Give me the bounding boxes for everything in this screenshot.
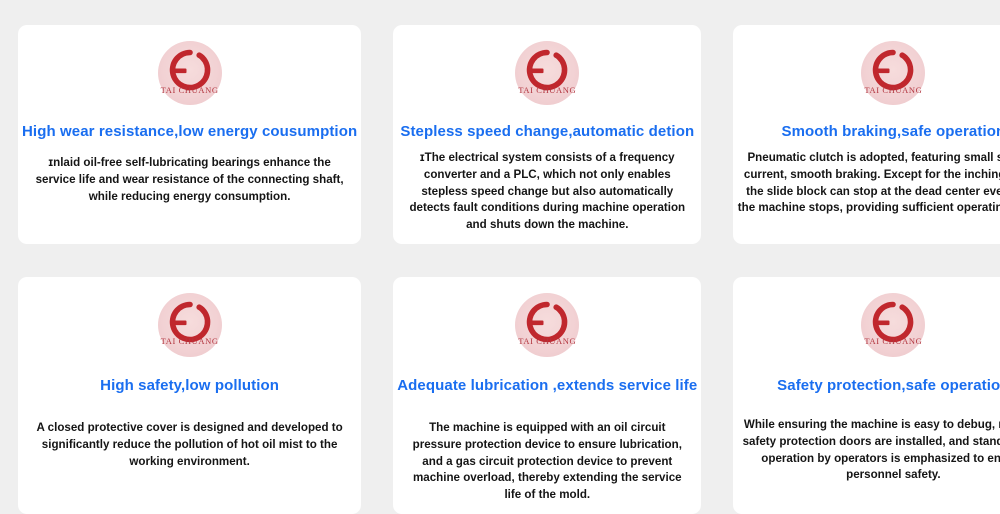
logo-wordmark: TAI CHUANG bbox=[515, 86, 579, 95]
card-body-text: A closed protective cover is designed an… bbox=[22, 420, 357, 470]
logo-wordmark: TAI CHUANG bbox=[861, 337, 925, 346]
tai-chuang-logo-icon: TAI CHUANG bbox=[515, 293, 579, 357]
tai-chuang-logo-icon: TAI CHUANG bbox=[158, 293, 222, 357]
logo-wordmark: TAI CHUANG bbox=[158, 337, 222, 346]
card-title: High safety,low pollution bbox=[100, 377, 279, 395]
feature-card-grid: TAI CHUANG High wear resistance,low ener… bbox=[0, 0, 1000, 508]
card-body-text: Pneumatic clutch is adopted, featuring s… bbox=[737, 150, 1000, 217]
card-title: Safety protection,safe operation bbox=[777, 377, 1000, 395]
logo-wordmark: TAI CHUANG bbox=[861, 86, 925, 95]
card-body-text: ɪnlaid oil-free self-lubricating bearing… bbox=[22, 155, 357, 205]
feature-card[interactable]: TAI CHUANG High safety,low pollution A c… bbox=[18, 277, 361, 514]
feature-card[interactable]: TAI CHUANG High wear resistance,low ener… bbox=[18, 25, 361, 244]
feature-card[interactable]: TAI CHUANG Stepless speed change,automat… bbox=[393, 25, 701, 244]
card-body-text: While ensuring the machine is easy to de… bbox=[737, 417, 1000, 484]
feature-card[interactable]: TAI CHUANG Smooth braking,safe operation… bbox=[733, 25, 1000, 244]
card-title: Smooth braking,safe operation bbox=[781, 123, 1000, 141]
card-title: High wear resistance,low energy cousumpt… bbox=[22, 123, 357, 141]
tai-chuang-logo-icon: TAI CHUANG bbox=[158, 41, 222, 105]
logo-wordmark: TAI CHUANG bbox=[515, 337, 579, 346]
tai-chuang-logo-icon: TAI CHUANG bbox=[861, 293, 925, 357]
tai-chuang-logo-icon: TAI CHUANG bbox=[861, 41, 925, 105]
card-title: Adequate lubrication ,extends service li… bbox=[397, 377, 697, 395]
card-body-text: ɪThe electrical system consists of a fre… bbox=[397, 150, 697, 234]
feature-card[interactable]: TAI CHUANG Safety protection,safe operat… bbox=[733, 277, 1000, 514]
feature-card[interactable]: TAI CHUANG Adequate lubrication ,extends… bbox=[393, 277, 701, 514]
card-title: Stepless speed change,automatic detion bbox=[400, 123, 694, 141]
tai-chuang-logo-icon: TAI CHUANG bbox=[515, 41, 579, 105]
logo-wordmark: TAI CHUANG bbox=[158, 86, 222, 95]
card-body-text: The machine is equipped with an oil circ… bbox=[397, 420, 697, 504]
